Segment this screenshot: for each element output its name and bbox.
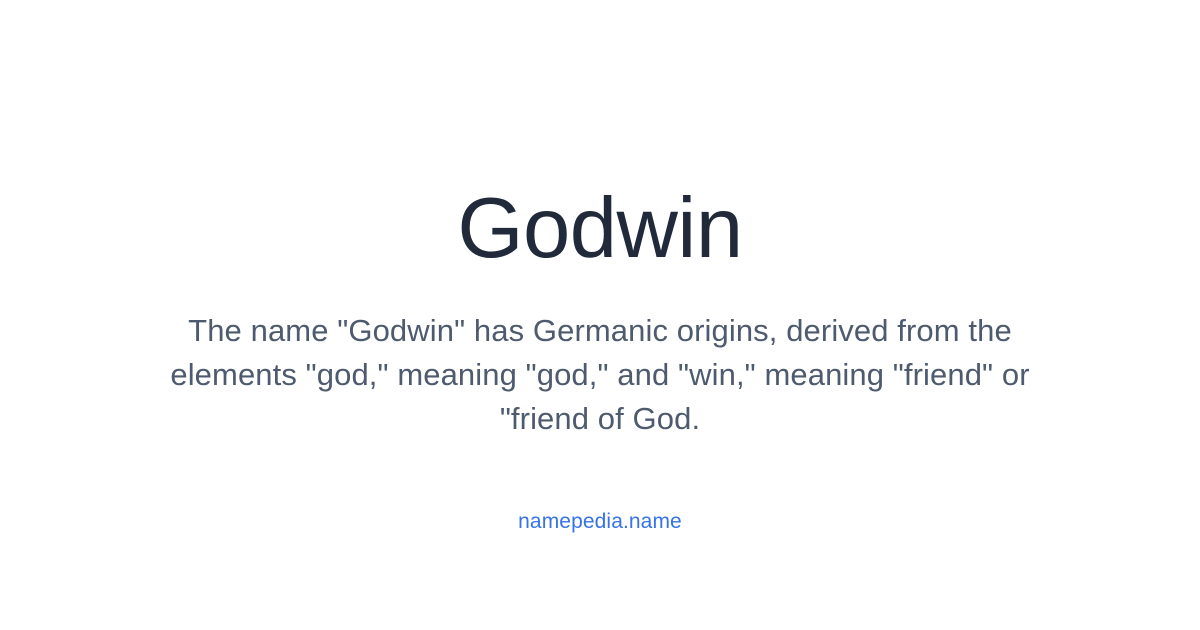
name-description: The name "Godwin" has Germanic origins, … bbox=[148, 309, 1053, 441]
og-preview-card: Godwin The name "Godwin" has Germanic or… bbox=[0, 0, 1200, 630]
card-content: Godwin The name "Godwin" has Germanic or… bbox=[0, 0, 1200, 534]
site-link-container: namepedia.name bbox=[0, 509, 1200, 534]
site-link[interactable]: namepedia.name bbox=[518, 509, 682, 534]
page-title: Godwin bbox=[457, 186, 742, 271]
